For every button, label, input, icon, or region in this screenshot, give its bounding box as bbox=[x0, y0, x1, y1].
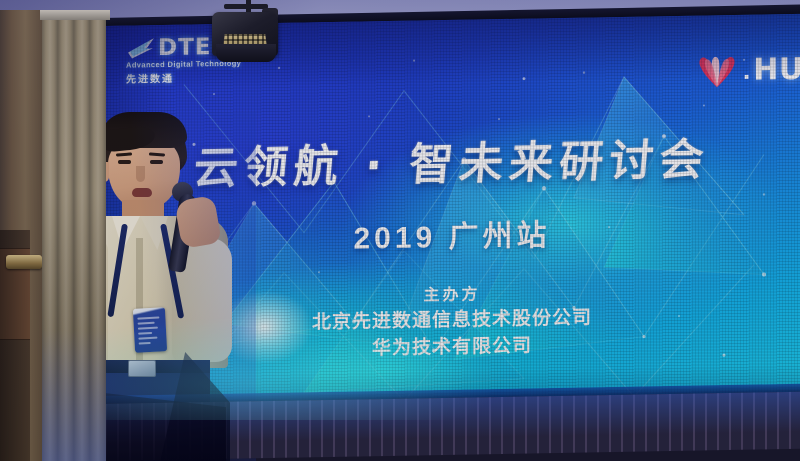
stage-light-barndoor bbox=[216, 44, 276, 62]
door-handle bbox=[6, 255, 42, 269]
curtain-glow bbox=[42, 330, 106, 461]
curtain-rail bbox=[40, 10, 110, 20]
conference-photo: 云领航 · 智未来研讨会 2019 广州站 主办方 北京先进数通信息技术股份公司… bbox=[0, 0, 800, 461]
